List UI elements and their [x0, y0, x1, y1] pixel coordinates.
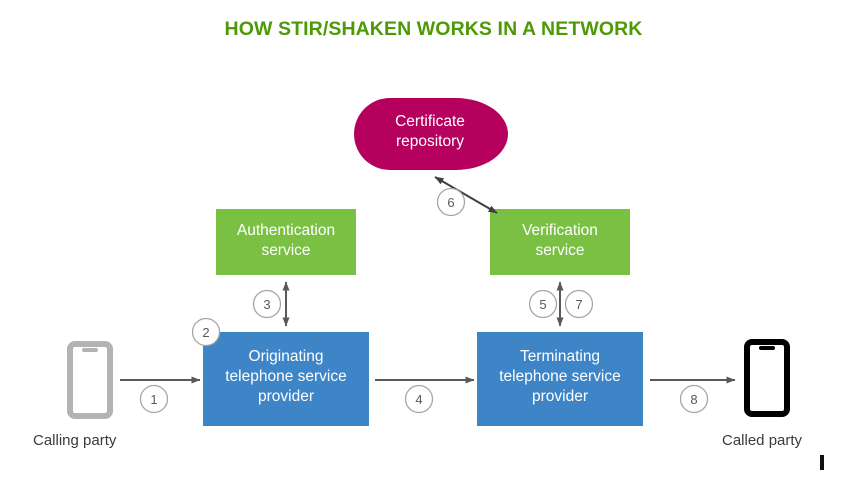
step-number-1: 1: [144, 393, 164, 406]
step-number-2: 2: [196, 326, 216, 339]
certificate-repository-label: Certificate repository: [370, 112, 490, 152]
step-number-4: 4: [409, 393, 429, 406]
calling-party-label: Calling party: [33, 432, 116, 449]
corner-tick-mark: [820, 455, 824, 470]
cert-repo-line-1: Certificate: [395, 113, 465, 130]
step-number-5: 5: [533, 298, 553, 311]
called-party-phone-icon: [747, 342, 787, 414]
called-party-label: Called party: [722, 432, 802, 449]
calling-party-phone-icon: [70, 344, 110, 416]
step-number-8: 8: [684, 393, 704, 406]
step-number-6: 6: [441, 196, 461, 209]
verification-service-node[interactable]: [490, 209, 630, 275]
step-number-3: 3: [257, 298, 277, 311]
authentication-service-node[interactable]: [216, 209, 356, 275]
originating-provider-node[interactable]: [203, 332, 369, 426]
diagram-canvas: HOW STIR/SHAKEN WORKS IN A NETWORK: [0, 0, 867, 488]
terminating-provider-node[interactable]: [477, 332, 643, 426]
step-number-7: 7: [569, 298, 589, 311]
cert-repo-line-2: repository: [396, 133, 464, 150]
diagram-graphics: [0, 0, 867, 488]
